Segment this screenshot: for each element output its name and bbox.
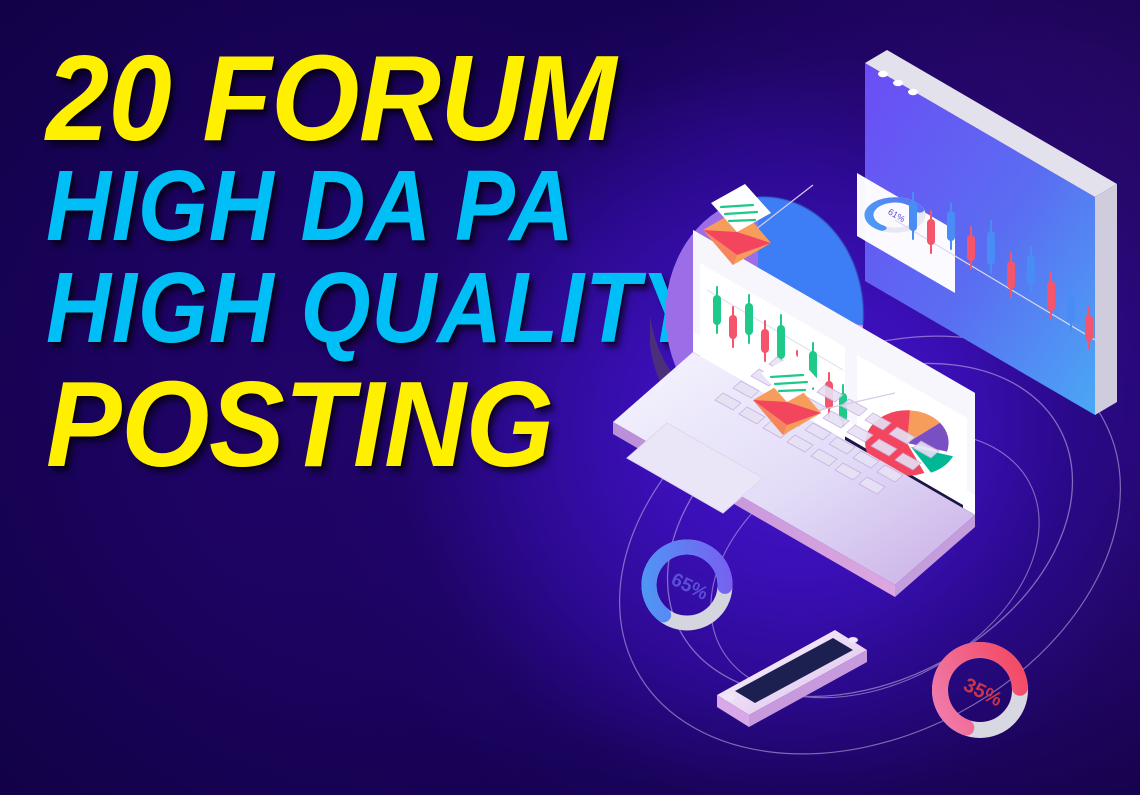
gauge-right: 35%	[929, 639, 1032, 742]
gauge-right-label: 35%	[960, 674, 1006, 711]
gauge-left-label: 65%	[668, 569, 711, 605]
headline-line-1: 20 FORUM	[46, 42, 604, 154]
smartphone	[717, 630, 867, 727]
headline-line-3: HIGH QUALITY	[46, 262, 586, 354]
poster-canvas: 20 FORUM HIGH DA PA HIGH QUALITY POSTING	[0, 0, 1140, 795]
headline-line-2: HIGH DA PA	[46, 160, 586, 252]
isometric-illustration: 61%	[595, 25, 1140, 770]
headline-block: 20 FORUM HIGH DA PA HIGH QUALITY POSTING	[46, 42, 646, 480]
gauge-left: 65%	[634, 532, 741, 639]
headline-line-4: POSTING	[46, 368, 604, 480]
